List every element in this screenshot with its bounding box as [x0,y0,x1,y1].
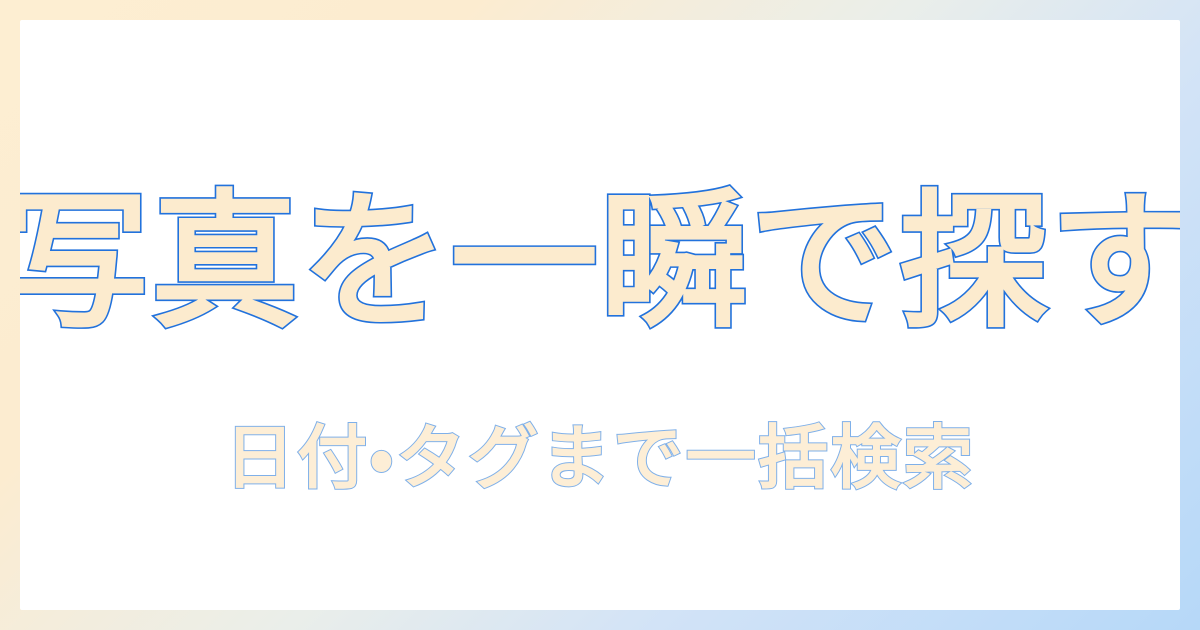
subhead-block: 日付・タグまで一括検索 [20,412,1180,504]
promo-banner: 写真を一瞬で探す 日付・タグまで一括検索 [0,0,1200,630]
banner-card: 写真を一瞬で探す 日付・タグまで一括検索 [20,20,1180,610]
page-subtitle: 日付・タグまで一括検索 [225,423,976,493]
page-title: 写真を一瞬で探す [20,188,1180,336]
headline-block: 写真を一瞬で探す [20,172,1180,352]
